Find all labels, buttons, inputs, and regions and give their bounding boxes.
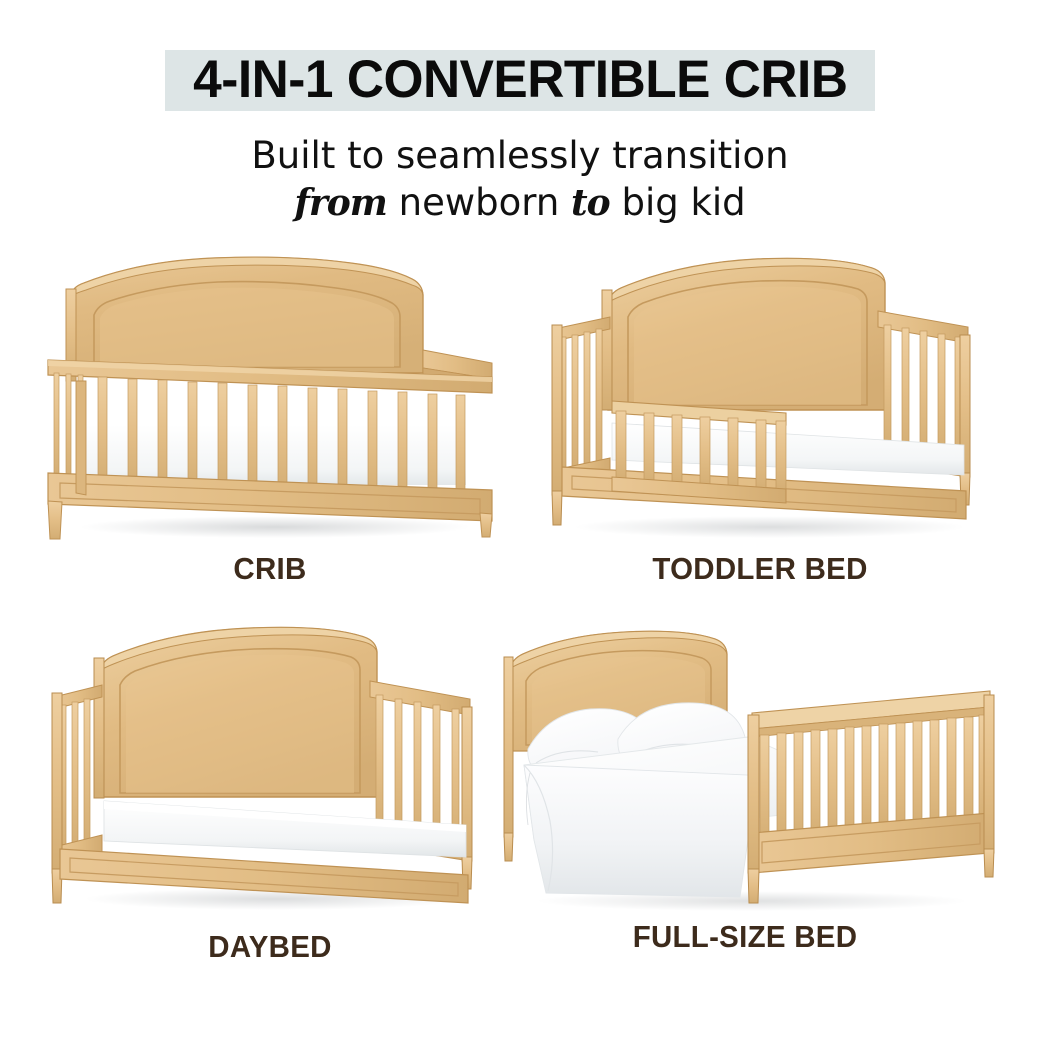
crib-illustration bbox=[40, 255, 500, 545]
infographic-page: 4-IN-1 CONVERTIBLE CRIB Built to seamles… bbox=[0, 0, 1040, 1040]
caption-full-size-bed: FULL-SIZE BED bbox=[503, 919, 988, 955]
full-size-bed-illustration bbox=[490, 625, 1000, 915]
subtitle-script-from: from bbox=[294, 182, 387, 224]
crib-front-rail bbox=[48, 360, 492, 521]
daybed-right-end-panel bbox=[370, 681, 472, 889]
subtitle-word-newborn: newborn bbox=[399, 181, 560, 224]
floor-shadow bbox=[80, 516, 470, 538]
config-cell-crib: CRIB bbox=[40, 255, 500, 615]
config-cell-toddler-bed: TODDLER BED bbox=[520, 255, 1000, 615]
fullsize-footboard bbox=[748, 691, 994, 903]
fullsize-bedding bbox=[524, 737, 782, 897]
caption-toddler-bed: TODDLER BED bbox=[532, 551, 988, 587]
subtitle: Built to seamlessly transition from newb… bbox=[0, 133, 1040, 226]
daybed-mattress bbox=[104, 801, 466, 857]
toddler-bed-illustration bbox=[520, 255, 1000, 545]
subtitle-script-to: to bbox=[571, 182, 610, 224]
caption-crib: CRIB bbox=[52, 551, 489, 587]
toddler-mattress bbox=[612, 423, 964, 475]
toddler-right-end-panel bbox=[878, 311, 970, 505]
toddler-headboard bbox=[602, 258, 885, 410]
subtitle-line-1: Built to seamlessly transition bbox=[0, 133, 1040, 178]
subtitle-word-bigkid: big kid bbox=[621, 181, 745, 224]
configuration-grid: CRIB bbox=[0, 255, 1040, 1015]
floor-shadow bbox=[575, 516, 965, 538]
caption-daybed: DAYBED bbox=[52, 929, 489, 965]
header: 4-IN-1 CONVERTIBLE CRIB Built to seamles… bbox=[0, 0, 1040, 226]
daybed-illustration bbox=[40, 625, 500, 915]
daybed-headboard bbox=[94, 627, 377, 798]
title-banner-wrapper: 4-IN-1 CONVERTIBLE CRIB bbox=[0, 50, 1040, 111]
page-title: 4-IN-1 CONVERTIBLE CRIB bbox=[193, 53, 847, 106]
subtitle-line-2: from newborn to big kid bbox=[0, 180, 1040, 226]
config-cell-daybed: DAYBED bbox=[40, 625, 500, 985]
config-cell-full-size-bed: FULL-SIZE BED bbox=[490, 625, 1000, 985]
title-banner: 4-IN-1 CONVERTIBLE CRIB bbox=[165, 50, 876, 111]
